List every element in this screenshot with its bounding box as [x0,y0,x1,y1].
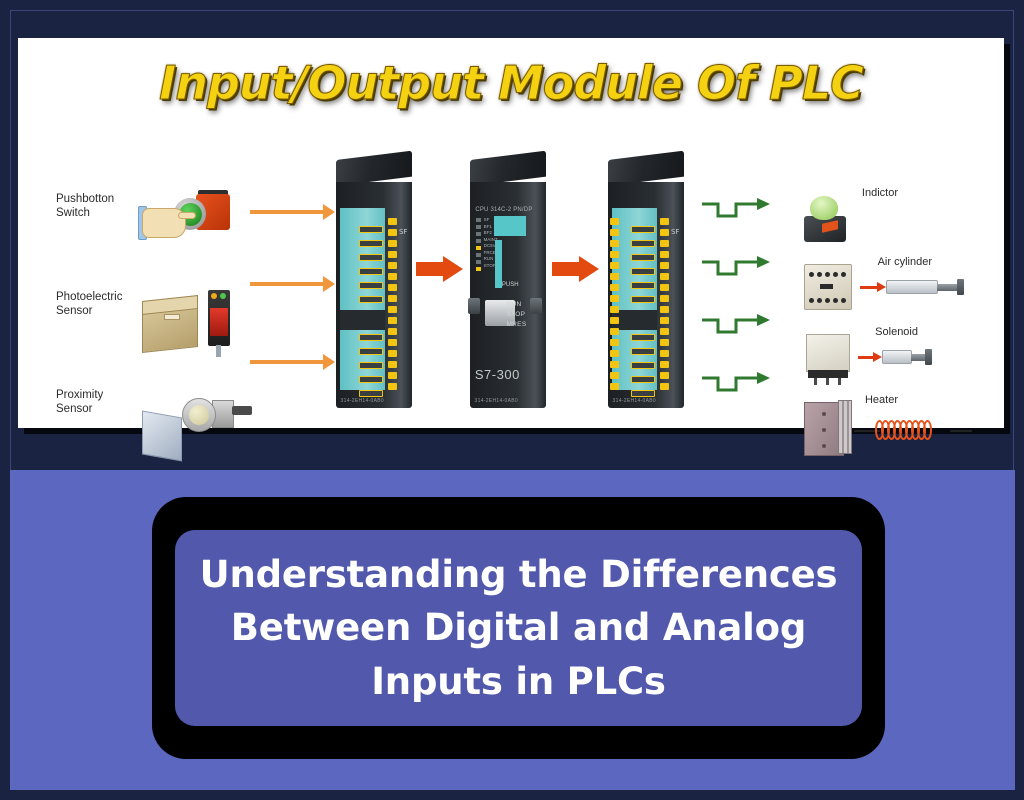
digital-output-module: SF [608,160,684,408]
cpu-model-label: CPU 314C-2 PN/DP [475,207,532,213]
input-label-line2: Sensor [56,305,92,317]
proximity-sensor-icon [142,386,252,468]
input-device-pushbutton-switch: Pushbotton Switch [56,190,256,274]
module-connector [631,348,655,355]
output-device-solenoid: Solenoid [798,328,994,390]
input-device-proximity-sensor: Proximity Sensor [56,386,256,470]
module-connector [359,268,383,275]
input-label-line2: Sensor [56,403,92,415]
output-device-indicator: Indictor [798,188,994,250]
pushbutton-switch-icon [142,190,252,272]
input-label-line1: Photoelectric [56,291,122,303]
module-connector [359,254,383,261]
module-connector [631,240,655,247]
photoelectric-sensor-icon [142,288,252,370]
plc-illustration-panel: Input/Output Module Of PLC Pushbotton Sw… [18,38,1004,428]
module-connector [359,282,383,289]
module-connector [631,334,655,341]
input-devices-column: Pushbotton Switch Photoelectric Sensor [56,190,256,484]
module-top-cover [608,151,684,186]
module-connector [359,334,383,341]
output-devices-column: Indictor Air cylinder [798,188,994,468]
cpu-product-name: S7-300 [470,367,525,382]
module-face-divider [612,310,658,330]
article-title-line1: Understanding the Differences [200,553,838,596]
heater-coil-icon [878,420,932,440]
article-title-card: Understanding the Differences Between Di… [152,497,885,759]
output-device-air-cylinder: Air cylinder [798,258,994,320]
cpu-mode-labels: RUNSTOPMRES [506,300,526,329]
module-connector [631,254,655,261]
module-connector [631,226,655,233]
module-body: SF [608,182,684,408]
article-title-line2: Between Digital and Analog [231,606,806,649]
module-serial-number: 314-2EH14-0AB0 [475,398,518,404]
input-arrow-2 [250,282,324,286]
module-body: SF 314-2EH14-0AB0 [336,182,412,408]
red-arrow-to-small-cylinder [858,356,874,359]
input-device-photoelectric-sensor: Photoelectric Sensor [56,288,256,372]
bus-arrow-cpu-to-output [552,256,598,282]
input-label-line1: Proximity [56,389,103,401]
module-connector [359,362,383,369]
input-label-photoelectric: Photoelectric Sensor [56,290,134,319]
module-sf-led-label: SF [671,228,679,236]
output-wave-arrow-1 [702,196,776,222]
output-label-heater: Heater [865,394,898,406]
module-connector [359,226,383,233]
bus-arrow-input-to-cpu [416,256,462,282]
module-connector [631,296,655,303]
output-label-air-cylinder: Air cylinder [878,256,932,268]
module-sf-led-label: SF [399,228,407,236]
output-wave-arrow-2 [702,254,776,280]
cpu-clip-left [468,298,480,314]
module-terminal-column [610,218,619,394]
module-terminal-column [388,218,397,394]
module-body: CPU 314C-2 PN/DP SFBF1BF2MAINTDC5VFRCERU… [470,182,546,408]
cpu-display [494,216,526,236]
module-serial-number: 314-2EH14-0AB0 [341,398,384,404]
cpu-memory-card-slot [495,240,502,288]
module-connector [631,268,655,275]
module-connector [359,296,383,303]
cpu-push-label: PUSH [502,282,519,288]
module-serial-number: 314-2EH14-0AB0 [613,398,656,404]
illustration-title: Input/Output Module Of PLC [18,56,1004,110]
module-top-cover [336,151,412,186]
cpu-clip-right [530,298,542,314]
module-face-divider [340,310,386,330]
module-terminal-column [660,218,669,394]
article-banner-panel: Understanding the Differences Between Di… [10,470,1015,790]
module-connector [631,390,655,397]
red-arrow-to-cylinder [860,286,878,289]
input-arrow-1 [250,210,324,214]
module-connector [631,362,655,369]
output-label-solenoid: Solenoid [875,326,918,338]
input-label-pushbutton: Pushbotton Switch [56,192,134,221]
output-device-heater: Heater [798,398,994,460]
module-connector [631,376,655,383]
digital-input-module: SF 314-2EH14-0AB0 [336,160,412,408]
input-label-proximity: Proximity Sensor [56,388,134,417]
cpu-module: CPU 314C-2 PN/DP SFBF1BF2MAINTDC5VFRCERU… [470,160,546,408]
module-connector [359,240,383,247]
module-top-cover [470,151,546,186]
module-connector [359,376,383,383]
input-label-line1: Pushbotton [56,193,114,205]
article-title-line3: Inputs in PLCs [371,660,666,703]
heater-wire-right [950,430,972,432]
article-title: Understanding the Differences Between Di… [176,548,862,709]
module-connector [359,390,383,397]
input-label-line2: Switch [56,207,90,219]
output-wave-arrow-4 [702,370,776,396]
module-connector [359,348,383,355]
input-arrow-3 [250,360,324,364]
output-wave-arrow-3 [702,312,776,338]
output-label-indicator: Indictor [862,187,898,199]
article-title-inner-panel: Understanding the Differences Between Di… [175,530,862,726]
module-connector [631,282,655,289]
